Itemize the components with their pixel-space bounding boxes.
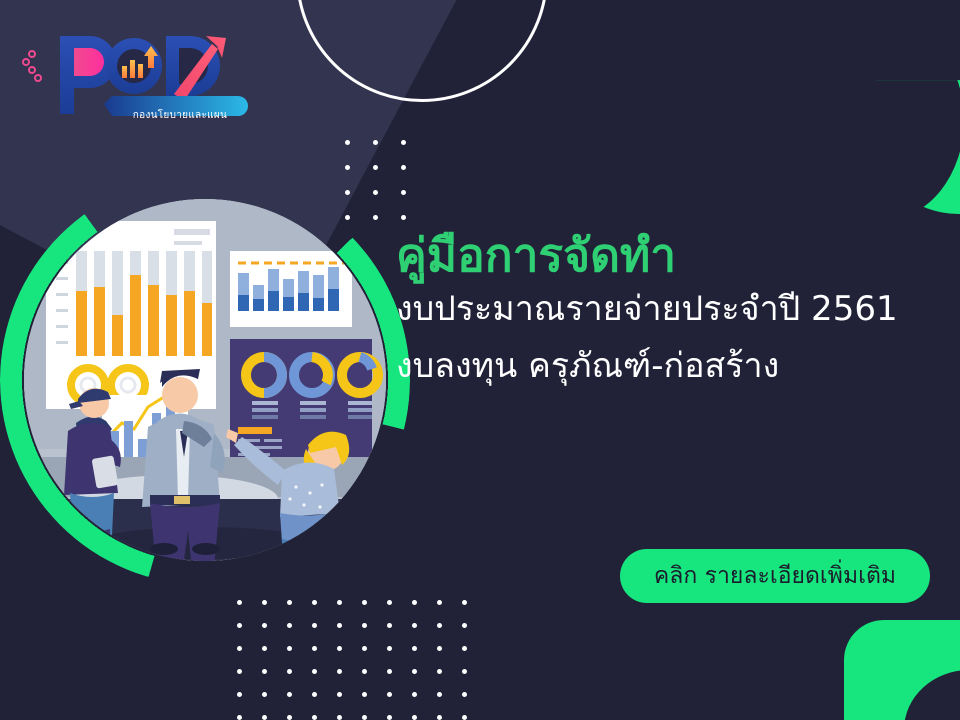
headline-block: คู่มือการจัดทำ งบประมาณรายจ่ายประจำปี 25… bbox=[396, 228, 944, 387]
dot bbox=[462, 692, 467, 697]
dot bbox=[437, 692, 442, 697]
green-corner-bottom-right bbox=[844, 620, 960, 720]
dot bbox=[312, 692, 317, 697]
dot bbox=[337, 692, 342, 697]
dot bbox=[337, 715, 342, 720]
dot bbox=[412, 692, 417, 697]
dot bbox=[401, 140, 406, 145]
dot bbox=[262, 692, 267, 697]
promo-banner: กองนโยบายและแผน คู่มือการจัดทำ งบประมาณร… bbox=[0, 0, 960, 720]
dot bbox=[287, 623, 292, 628]
dot bbox=[387, 715, 392, 720]
dot bbox=[262, 623, 267, 628]
dot bbox=[237, 692, 242, 697]
dot bbox=[362, 600, 367, 605]
dot bbox=[437, 623, 442, 628]
dot bbox=[237, 669, 242, 674]
dot bbox=[387, 600, 392, 605]
dot bbox=[412, 715, 417, 720]
dot bbox=[462, 600, 467, 605]
more-details-button[interactable]: คลิก รายละเอียดเพิ่มเติม bbox=[620, 549, 930, 603]
dot bbox=[312, 646, 317, 651]
dot bbox=[237, 646, 242, 651]
dot bbox=[345, 165, 350, 170]
dot bbox=[262, 715, 267, 720]
dot bbox=[337, 669, 342, 674]
dot bbox=[462, 669, 467, 674]
dot bbox=[437, 715, 442, 720]
dot bbox=[401, 165, 406, 170]
dot bbox=[237, 623, 242, 628]
dot bbox=[237, 600, 242, 605]
dot bbox=[337, 646, 342, 651]
dot bbox=[362, 669, 367, 674]
dot bbox=[412, 646, 417, 651]
dot bbox=[237, 715, 242, 720]
pod-logo[interactable]: กองนโยบายและแผน bbox=[16, 22, 256, 122]
dot bbox=[287, 600, 292, 605]
dot bbox=[312, 715, 317, 720]
dot bbox=[287, 646, 292, 651]
dot bbox=[373, 165, 378, 170]
dot bbox=[387, 669, 392, 674]
dot bbox=[362, 623, 367, 628]
dot bbox=[262, 669, 267, 674]
dot bbox=[262, 600, 267, 605]
dot bbox=[387, 623, 392, 628]
dot bbox=[462, 646, 467, 651]
dot bbox=[437, 669, 442, 674]
dot bbox=[362, 715, 367, 720]
dot bbox=[287, 692, 292, 697]
green-blob-bottom-left bbox=[0, 580, 140, 720]
headline-line-1: คู่มือการจัดทำ bbox=[396, 228, 944, 282]
dot bbox=[312, 623, 317, 628]
dot bbox=[337, 600, 342, 605]
dot bbox=[412, 623, 417, 628]
dot bbox=[401, 215, 406, 220]
dot bbox=[345, 140, 350, 145]
dot bbox=[337, 623, 342, 628]
dot-grid-bottom bbox=[237, 600, 487, 720]
dot bbox=[462, 623, 467, 628]
dot bbox=[412, 669, 417, 674]
dot bbox=[312, 600, 317, 605]
dot bbox=[401, 190, 406, 195]
dot bbox=[287, 669, 292, 674]
dot bbox=[373, 140, 378, 145]
dot bbox=[462, 715, 467, 720]
dot bbox=[437, 600, 442, 605]
illustration-container bbox=[10, 185, 400, 575]
business-team-analytics-illustration bbox=[24, 199, 386, 561]
dot bbox=[412, 600, 417, 605]
dot bbox=[362, 646, 367, 651]
dot bbox=[312, 669, 317, 674]
dot bbox=[387, 646, 392, 651]
dot bbox=[287, 715, 292, 720]
dot bbox=[437, 646, 442, 651]
green-arc-right bbox=[866, 28, 960, 214]
dot bbox=[362, 692, 367, 697]
dot bbox=[387, 692, 392, 697]
dot bbox=[262, 646, 267, 651]
headline-line-2: งบประมาณรายจ่ายประจำปี 2561 bbox=[396, 288, 944, 331]
headline-line-3: งบลงทุน ครุภัณฑ์-ก่อสร้าง bbox=[396, 345, 944, 388]
